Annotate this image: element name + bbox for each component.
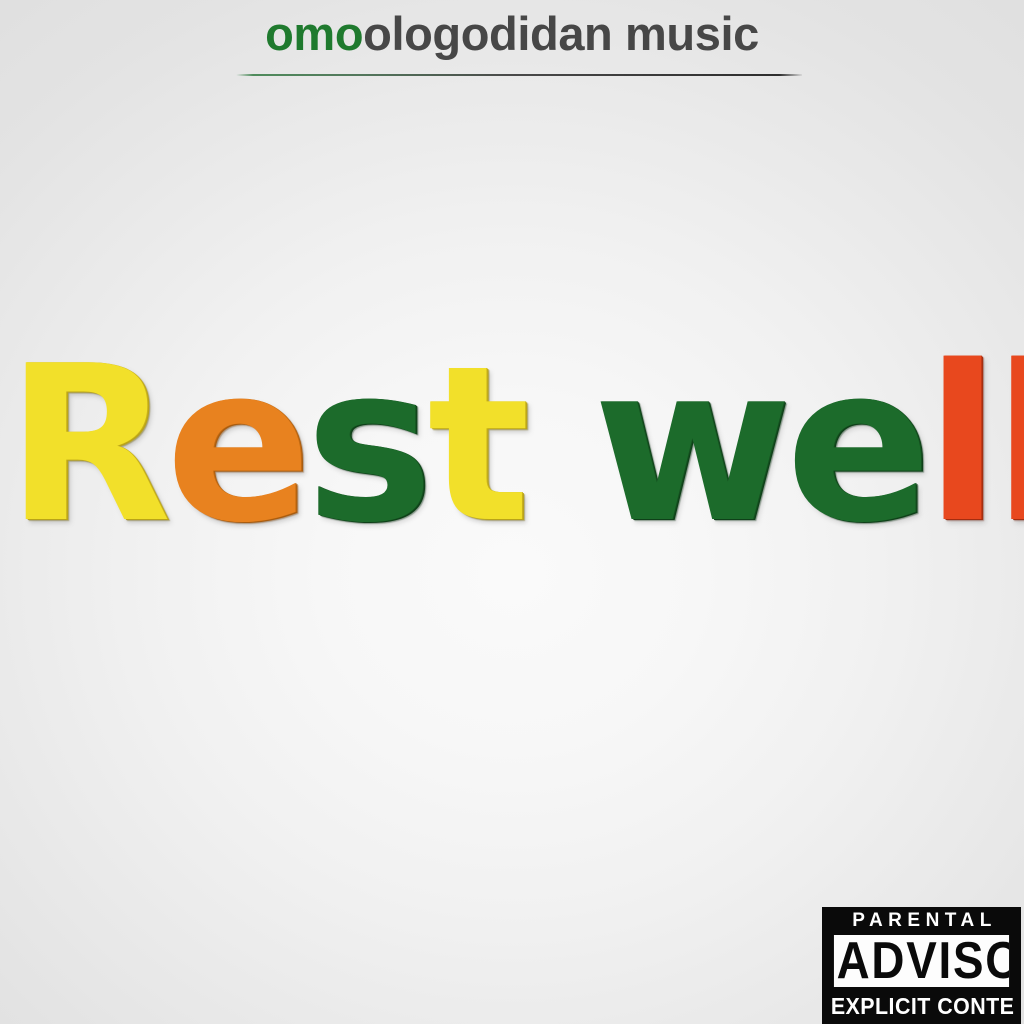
artist-header: omoologodidan music bbox=[0, 0, 1024, 92]
album-title-letter: e bbox=[166, 330, 306, 560]
album-title-letter: l bbox=[925, 330, 993, 560]
artist-name-accent: omo bbox=[265, 7, 363, 60]
album-title-letter: s bbox=[305, 330, 427, 560]
album-title: Rest well bbox=[0, 330, 1024, 560]
album-title-block: Rest well bbox=[0, 330, 1024, 560]
advisory-line-advisory: ADVISORY bbox=[834, 935, 1009, 987]
advisory-line-parental: PARENTAL bbox=[822, 907, 1021, 935]
advisory-line-explicit-content: EXPLICIT CONTENT bbox=[829, 987, 1014, 1024]
artist-name: omoologodidan music bbox=[0, 4, 1024, 64]
album-title-letter bbox=[524, 330, 593, 560]
album-title-letter: e bbox=[786, 330, 926, 560]
album-title-letter: l bbox=[993, 330, 1024, 560]
album-title-letter: t bbox=[427, 330, 524, 560]
artist-name-rest: ologodidan music bbox=[363, 7, 759, 60]
album-cover-artwork: omoologodidan music Rest well PARENTAL A… bbox=[0, 0, 1024, 1024]
album-title-letter: R bbox=[6, 330, 166, 560]
parental-advisory-label: PARENTAL ADVISORY EXPLICIT CONTENT bbox=[822, 907, 1021, 1024]
album-title-letter: w bbox=[593, 330, 786, 560]
header-divider-rule bbox=[236, 74, 802, 76]
